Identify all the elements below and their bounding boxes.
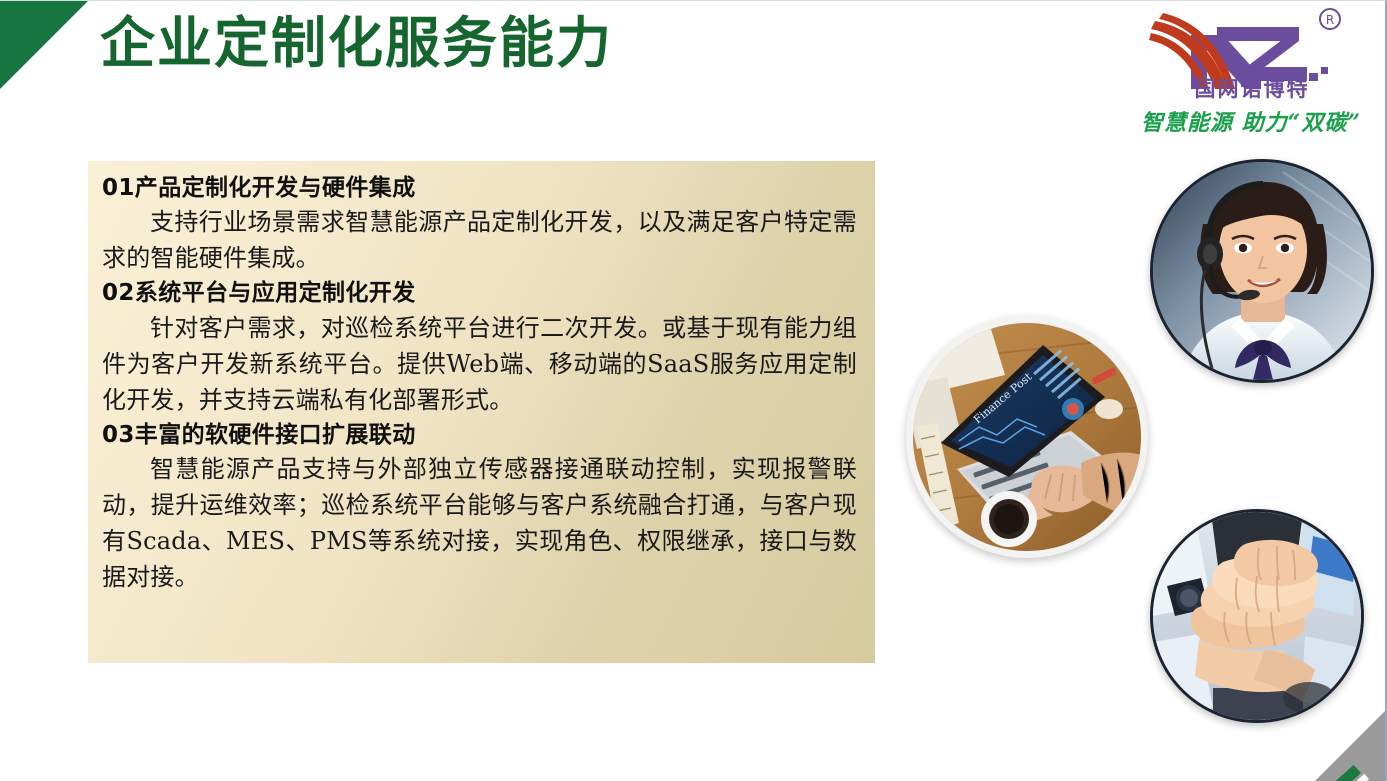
section-heading-01: 01产品定制化开发与硬件集成 bbox=[102, 173, 857, 203]
page-title: 企业定制化服务能力 bbox=[100, 9, 613, 78]
section-body-02: 针对客户需求，对巡检系统平台进行二次开发。或基于现有能力组件为客户开发新系统平台… bbox=[102, 310, 857, 418]
company-logo: R 国网诺博特 智慧能源 助力“双碳” bbox=[1131, 5, 1371, 140]
top-left-green-corner-decoration bbox=[0, 1, 88, 89]
slide-canvas: 企业定制化服务能力 R bbox=[0, 0, 1387, 781]
section-heading-02: 02系统平台与应用定制化开发 bbox=[102, 278, 857, 308]
content-panel: 01产品定制化开发与硬件集成 支持行业场景需求智慧能源产品定制化开发，以及满足客… bbox=[88, 161, 875, 663]
registered-icon: R bbox=[1320, 9, 1340, 29]
call-center-agent-photo bbox=[1150, 159, 1374, 383]
svg-text:R: R bbox=[1326, 13, 1334, 27]
section-body-01: 支持行业场景需求智慧能源产品定制化开发，以及满足客户特定需求的智能硬件集成。 bbox=[102, 204, 857, 276]
section-heading-03: 03丰富的软硬件接口扩展联动 bbox=[102, 420, 857, 450]
logo-tagline: 智慧能源 助力“双碳” bbox=[1131, 105, 1371, 137]
section-body-03: 智慧能源产品支持与外部独立传感器接通联动控制，实现报警联动，提升运维效率；巡检系… bbox=[102, 451, 857, 595]
laptop-workspace-photo: Finance Post bbox=[906, 316, 1148, 558]
teamwork-hands-photo bbox=[1150, 509, 1364, 723]
logo-company-name: 国网诺博特 bbox=[1167, 73, 1337, 103]
